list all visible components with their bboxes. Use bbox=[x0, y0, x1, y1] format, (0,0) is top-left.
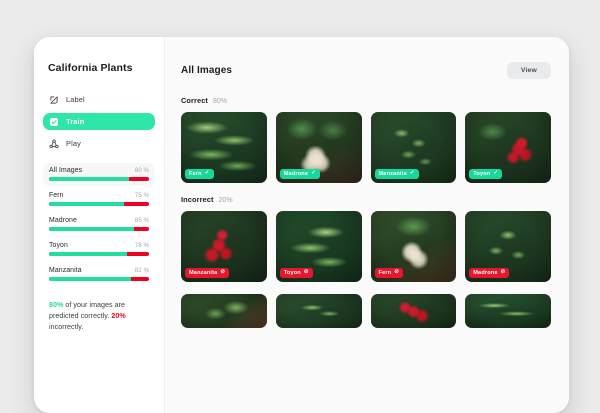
view-button[interactable]: View bbox=[507, 62, 551, 79]
plant-photo bbox=[181, 294, 267, 328]
app-title: California Plants bbox=[34, 62, 164, 74]
image-card[interactable] bbox=[371, 294, 457, 328]
image-card[interactable]: Fern ✓ bbox=[181, 112, 267, 183]
stat-row-toyon[interactable]: Toyon 78 % bbox=[43, 238, 155, 261]
image-card[interactable] bbox=[276, 294, 362, 328]
summary-incorrect-pct: 20% bbox=[111, 312, 125, 320]
stat-progress-bar bbox=[49, 202, 149, 206]
stat-name: Toyon bbox=[49, 242, 68, 249]
image-card[interactable] bbox=[181, 294, 267, 328]
blocked-icon: ⊘ bbox=[394, 270, 399, 276]
prediction-badge-incorrect: Toyon ⊘ bbox=[280, 268, 313, 278]
stat-progress-fill bbox=[49, 252, 127, 256]
badge-label: Madrone bbox=[284, 171, 308, 177]
plant-photo bbox=[465, 294, 551, 328]
blocked-icon: ⊘ bbox=[501, 270, 506, 276]
image-card[interactable]: Madrone ⊘ bbox=[465, 211, 551, 282]
prediction-badge-incorrect: Fern ⊘ bbox=[375, 268, 404, 278]
badge-label: Fern bbox=[379, 270, 392, 276]
stat-name: Manzanita bbox=[49, 267, 82, 274]
image-card[interactable]: Manzanita ⊘ bbox=[181, 211, 267, 282]
badge-label: Manzanita bbox=[379, 171, 407, 177]
image-grid-correct: Fern ✓ Madrone ✓ Manzanita ✓ bbox=[181, 112, 551, 183]
blocked-icon: ⊘ bbox=[304, 270, 309, 276]
stat-name: Madrone bbox=[49, 217, 77, 224]
sidebar-nav: Label Train bbox=[34, 91, 164, 152]
sidebar: California Plants Label bbox=[34, 37, 165, 413]
stat-progress-bar bbox=[49, 252, 149, 256]
main-header: All Images View bbox=[181, 62, 551, 79]
section-correct: Correct 80% Fern ✓ Madrone ✓ bbox=[181, 96, 551, 183]
badge-label: Manzanita bbox=[189, 270, 217, 276]
stat-progress-fill bbox=[49, 202, 124, 206]
stat-progress-bar bbox=[49, 227, 149, 231]
image-grid-incorrect: Manzanita ⊘ Toyon ⊘ Fern ⊘ bbox=[181, 211, 551, 282]
stat-progress-bar bbox=[49, 177, 149, 181]
image-card[interactable]: Manzanita ✓ bbox=[371, 112, 457, 183]
badge-label: Toyon bbox=[284, 270, 301, 276]
stat-progress-fill bbox=[49, 227, 134, 231]
main-panel: All Images View Correct 80% Fern ✓ bbox=[165, 37, 569, 413]
stat-percent: 80 % bbox=[135, 168, 149, 174]
sidebar-item-play-text: Play bbox=[66, 139, 81, 148]
summary-text-end: incorrectly. bbox=[49, 323, 83, 331]
prediction-badge-correct: Madrone ✓ bbox=[280, 169, 320, 179]
label-tag-icon bbox=[49, 95, 59, 105]
stat-progress-fill bbox=[49, 177, 129, 181]
badge-label: Fern bbox=[189, 171, 202, 177]
plant-photo bbox=[276, 294, 362, 328]
check-icon: ✓ bbox=[410, 171, 415, 177]
section-percent: 80% bbox=[213, 98, 227, 105]
prediction-badge-incorrect: Manzanita ⊘ bbox=[185, 268, 229, 278]
train-check-square-icon bbox=[49, 117, 59, 127]
stat-percent: 82 % bbox=[135, 268, 149, 274]
image-card[interactable]: Toyon ✓ bbox=[465, 112, 551, 183]
badge-label: Madrone bbox=[473, 270, 497, 276]
stat-progress-bar bbox=[49, 277, 149, 281]
plant-photo bbox=[371, 294, 457, 328]
section-percent: 20% bbox=[219, 197, 233, 204]
blocked-icon: ⊘ bbox=[220, 270, 225, 276]
image-card[interactable]: Fern ⊘ bbox=[371, 211, 457, 282]
check-icon: ✓ bbox=[205, 171, 210, 177]
badge-label: Toyon bbox=[473, 171, 490, 177]
section-title: Incorrect bbox=[181, 195, 214, 204]
sidebar-item-train-text: Train bbox=[66, 117, 84, 126]
sidebar-item-label-text: Label bbox=[66, 95, 85, 104]
stat-name: All Images bbox=[49, 167, 82, 174]
stat-row-manzanita[interactable]: Manzanita 82 % bbox=[43, 263, 155, 286]
section-header-correct: Correct 80% bbox=[181, 96, 551, 105]
image-card[interactable]: Madrone ✓ bbox=[276, 112, 362, 183]
prediction-badge-incorrect: Madrone ⊘ bbox=[469, 268, 509, 278]
play-network-icon bbox=[49, 139, 59, 149]
app-window: California Plants Label bbox=[34, 37, 569, 413]
section-incorrect: Incorrect 20% Manzanita ⊘ Toyon ⊘ bbox=[181, 195, 551, 282]
sidebar-item-train[interactable]: Train bbox=[43, 113, 155, 130]
check-icon: ✓ bbox=[493, 171, 498, 177]
prediction-badge-correct: Toyon ✓ bbox=[469, 169, 502, 179]
stat-percent: 75 % bbox=[135, 193, 149, 199]
sidebar-item-label[interactable]: Label bbox=[43, 91, 155, 108]
image-card[interactable] bbox=[465, 294, 551, 328]
image-grid-overflow-row bbox=[181, 294, 551, 328]
prediction-badge-correct: Manzanita ✓ bbox=[375, 169, 419, 179]
stat-percent: 85 % bbox=[135, 218, 149, 224]
image-card[interactable]: Toyon ⊘ bbox=[276, 211, 362, 282]
class-stats-list: All Images 80 % Fern 75 % Madrone bbox=[34, 163, 164, 286]
page-title: All Images bbox=[181, 65, 232, 76]
section-header-incorrect: Incorrect 20% bbox=[181, 195, 551, 204]
check-icon: ✓ bbox=[311, 171, 316, 177]
prediction-badge-correct: Fern ✓ bbox=[185, 169, 214, 179]
stat-percent: 78 % bbox=[135, 243, 149, 249]
stat-row-fern[interactable]: Fern 75 % bbox=[43, 188, 155, 211]
stat-row-madrone[interactable]: Madrone 85 % bbox=[43, 213, 155, 236]
stat-name: Fern bbox=[49, 192, 64, 199]
summary-correct-pct: 80% bbox=[49, 301, 63, 309]
sidebar-item-play[interactable]: Play bbox=[43, 135, 155, 152]
stat-row-all-images[interactable]: All Images 80 % bbox=[43, 163, 155, 186]
stat-progress-fill bbox=[49, 277, 131, 281]
section-title: Correct bbox=[181, 96, 208, 105]
accuracy-summary: 80% of your images are predicted correct… bbox=[34, 300, 164, 333]
